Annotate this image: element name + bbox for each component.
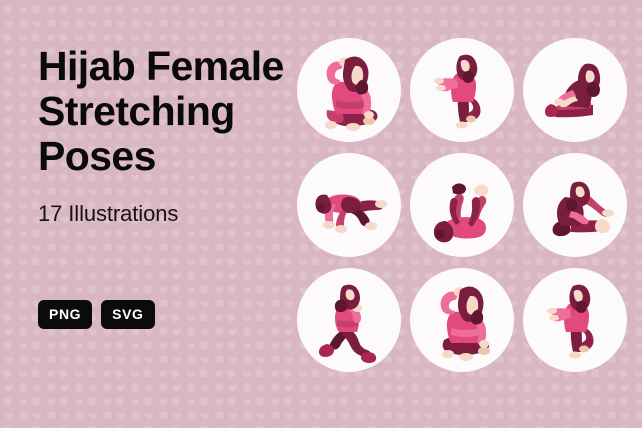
illustration-grid xyxy=(297,38,637,383)
seated-forward-bend-icon xyxy=(523,38,627,142)
kneeling-low-lunge-icon xyxy=(297,268,401,372)
pose-tile-standing-tree-pose[interactable] xyxy=(410,38,514,142)
seated-neck-stretch-icon xyxy=(410,268,514,372)
text-column: Hijab Female Stretching Poses 17 Illustr… xyxy=(0,0,300,428)
pose-tile-seated-side-bend[interactable] xyxy=(523,153,627,257)
page-title: Hijab Female Stretching Poses xyxy=(38,44,300,179)
poster-canvas: Hijab Female Stretching Poses 17 Illustr… xyxy=(0,0,642,428)
standing-tree-pose-icon xyxy=(410,38,514,142)
pose-tile-seated-neck-stretch[interactable] xyxy=(410,268,514,372)
pose-tile-bird-dog[interactable] xyxy=(297,153,401,257)
pose-tile-seated-overhead-arm-stretch[interactable] xyxy=(297,38,401,142)
bird-dog-icon xyxy=(297,153,401,257)
pose-tile-happy-baby-pose[interactable] xyxy=(410,153,514,257)
happy-baby-pose-icon xyxy=(410,153,514,257)
pose-tile-standing-tree-pose-alt[interactable] xyxy=(523,268,627,372)
standing-tree-pose-alt-icon xyxy=(523,268,627,372)
pose-tile-kneeling-low-lunge[interactable] xyxy=(297,268,401,372)
seated-side-bend-icon xyxy=(523,153,627,257)
illustration-count-label: 17 Illustrations xyxy=(38,201,300,227)
seated-overhead-arm-stretch-icon xyxy=(297,38,401,142)
pose-tile-seated-forward-bend[interactable] xyxy=(523,38,627,142)
